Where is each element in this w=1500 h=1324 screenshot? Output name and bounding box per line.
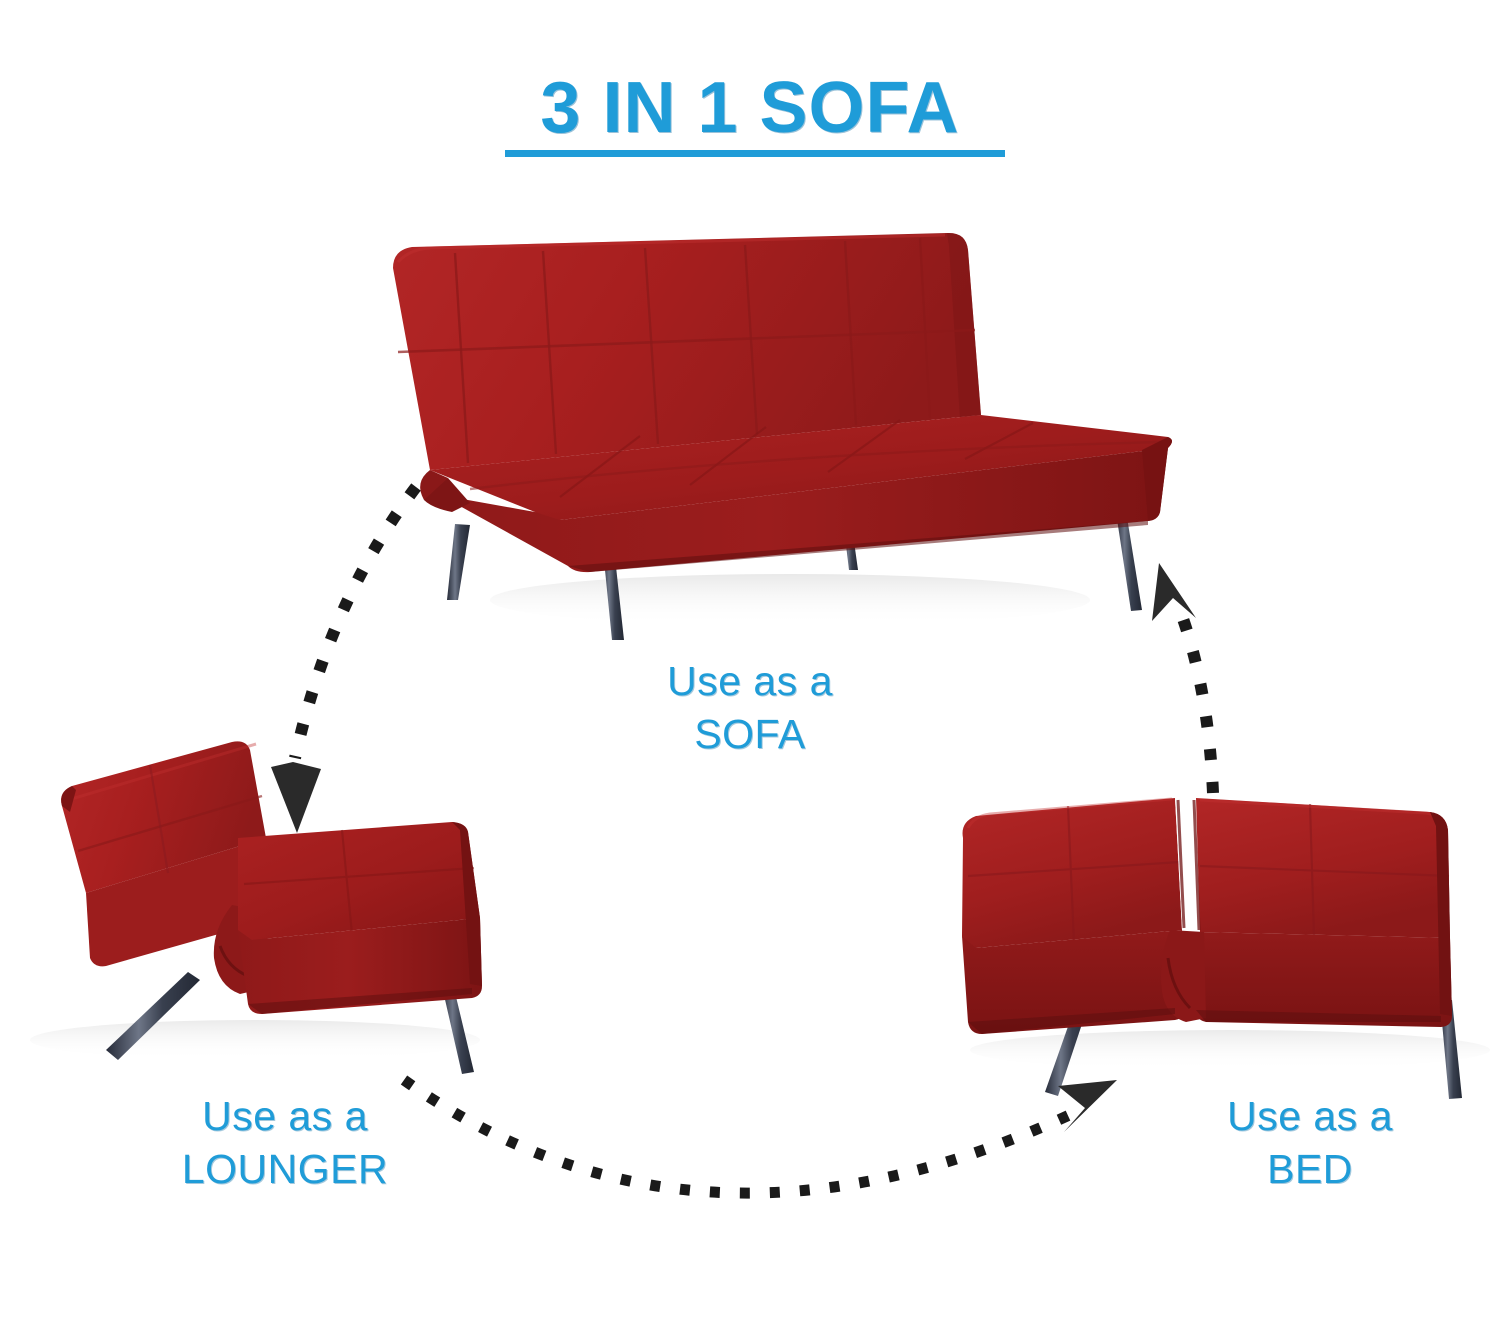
arrow-bed-to-sofa-path: [1176, 600, 1213, 793]
sofa-leg-front-left: [447, 524, 470, 600]
caption-lounger-line1: Use as a: [202, 1093, 368, 1139]
caption-sofa-line2: SOFA: [560, 708, 940, 761]
arrow-lounger-to-bed-path: [404, 1080, 1080, 1193]
bed-illustration: [962, 798, 1490, 1099]
arrow-bed-to-sofa: [1152, 563, 1213, 793]
arrow-bed-to-sofa-head: [1152, 563, 1196, 621]
caption-bed: Use as a BED: [1110, 1090, 1500, 1197]
arrow-sofa-to-lounger-head: [271, 762, 321, 833]
infographic-root: 3 IN 1 SOFA: [0, 0, 1500, 1324]
bed-hinge-gather: [1161, 930, 1206, 1022]
lounger-floor-shadow: [30, 1020, 480, 1060]
caption-lounger: Use as a LOUNGER: [75, 1090, 495, 1197]
arrow-lounger-to-bed: [404, 1080, 1117, 1193]
caption-bed-line1: Use as a: [1227, 1093, 1393, 1139]
sofa-illustration: [393, 233, 1172, 640]
caption-sofa-line1: Use as a: [667, 658, 833, 704]
bed-floor-shadow: [970, 1030, 1490, 1070]
lounger-illustration: [30, 741, 482, 1074]
caption-sofa: Use as a SOFA: [560, 655, 940, 762]
caption-lounger-line2: LOUNGER: [75, 1143, 495, 1196]
arrow-sofa-to-lounger: [271, 487, 416, 833]
arrow-sofa-to-lounger-path: [295, 487, 416, 758]
caption-bed-line2: BED: [1110, 1143, 1500, 1196]
arrow-lounger-to-bed-head: [1058, 1080, 1117, 1132]
sofa-floor-shadow: [490, 574, 1090, 626]
